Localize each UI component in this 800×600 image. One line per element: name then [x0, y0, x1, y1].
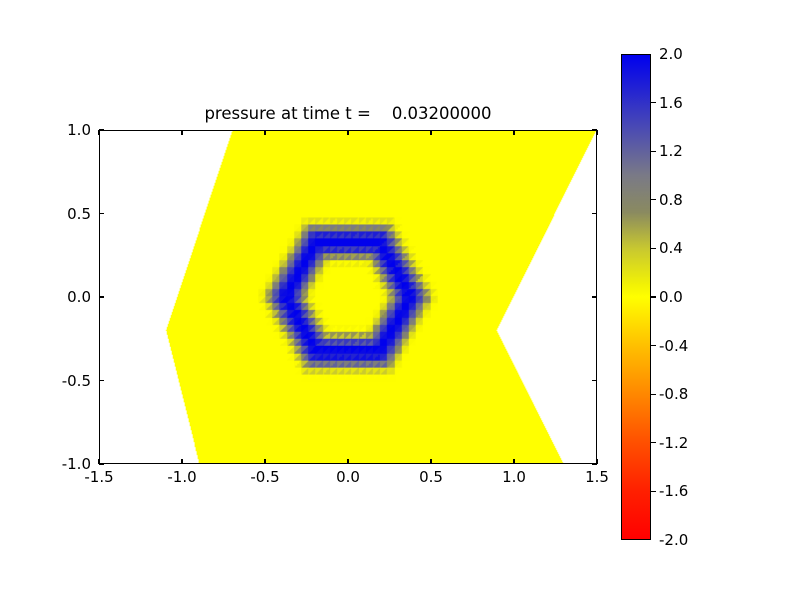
plot-axes	[99, 130, 597, 464]
y-tick-label: 1.0	[28, 121, 91, 139]
y-tick-label: -1.0	[28, 455, 91, 473]
x-tick-mark	[98, 130, 99, 135]
y-tick-mark	[592, 213, 597, 214]
x-tick-mark	[181, 130, 182, 135]
colorbar-tick-label: -2.0	[659, 531, 688, 549]
x-tick-mark	[347, 459, 348, 464]
colorbar-tick-label: 0.4	[659, 239, 683, 257]
x-tick-mark	[181, 459, 182, 464]
colorbar-tick-mark	[651, 296, 656, 297]
x-tick-mark	[264, 130, 265, 135]
x-tick-label: 0.0	[336, 468, 360, 486]
colorbar-gradient	[621, 54, 651, 540]
x-tick-mark	[596, 130, 597, 135]
y-tick-mark	[99, 463, 104, 464]
y-tick-label: 0.0	[28, 288, 91, 306]
x-tick-mark	[430, 130, 431, 135]
y-tick-label: 0.5	[28, 205, 91, 223]
y-tick-mark	[592, 296, 597, 297]
y-tick-mark	[592, 380, 597, 381]
colorbar-tick-mark	[651, 491, 656, 492]
y-tick-label: -0.5	[28, 372, 91, 390]
colorbar-tick-label: -1.2	[659, 434, 688, 452]
y-tick-mark	[592, 463, 597, 464]
colorbar-tick-label: 1.2	[659, 142, 683, 160]
colorbar-tick-mark	[651, 442, 656, 443]
colorbar-tick-mark	[651, 199, 656, 200]
y-tick-mark	[99, 213, 104, 214]
x-tick-label: 1.5	[585, 468, 609, 486]
x-tick-label: 0.5	[419, 468, 443, 486]
colorbar-tick-label: -0.4	[659, 337, 688, 355]
x-tick-mark	[430, 459, 431, 464]
colorbar-tick-mark	[651, 345, 656, 346]
colorbar-tick-label: 0.8	[659, 191, 683, 209]
colorbar-tick-label: -1.6	[659, 482, 688, 500]
y-tick-mark	[99, 380, 104, 381]
colorbar-tick-mark	[651, 102, 656, 103]
page-title: pressure at time t = 0.03200000	[99, 104, 597, 124]
x-tick-mark	[347, 130, 348, 135]
colorbar-tick-mark	[651, 394, 656, 395]
colorbar-tick-label: 2.0	[659, 45, 683, 63]
colorbar-tick-label: -0.8	[659, 385, 688, 403]
colorbar	[621, 54, 651, 540]
y-tick-mark	[99, 129, 104, 130]
colorbar-tick-mark	[651, 151, 656, 152]
y-tick-mark	[99, 296, 104, 297]
x-tick-label: -1.0	[167, 468, 196, 486]
x-tick-mark	[513, 130, 514, 135]
colorbar-tick-mark	[651, 248, 656, 249]
x-tick-label: -0.5	[250, 468, 279, 486]
colorbar-tick-label: 1.6	[659, 94, 683, 112]
x-tick-mark	[513, 459, 514, 464]
x-tick-label: 1.0	[502, 468, 526, 486]
matplotlib-figure: pressure at time t = 0.03200000 -1.5-1.0…	[0, 0, 800, 600]
pressure-field-heatmap	[100, 131, 596, 463]
x-tick-mark	[264, 459, 265, 464]
y-tick-mark	[592, 129, 597, 130]
colorbar-tick-label: 0.0	[659, 288, 683, 306]
